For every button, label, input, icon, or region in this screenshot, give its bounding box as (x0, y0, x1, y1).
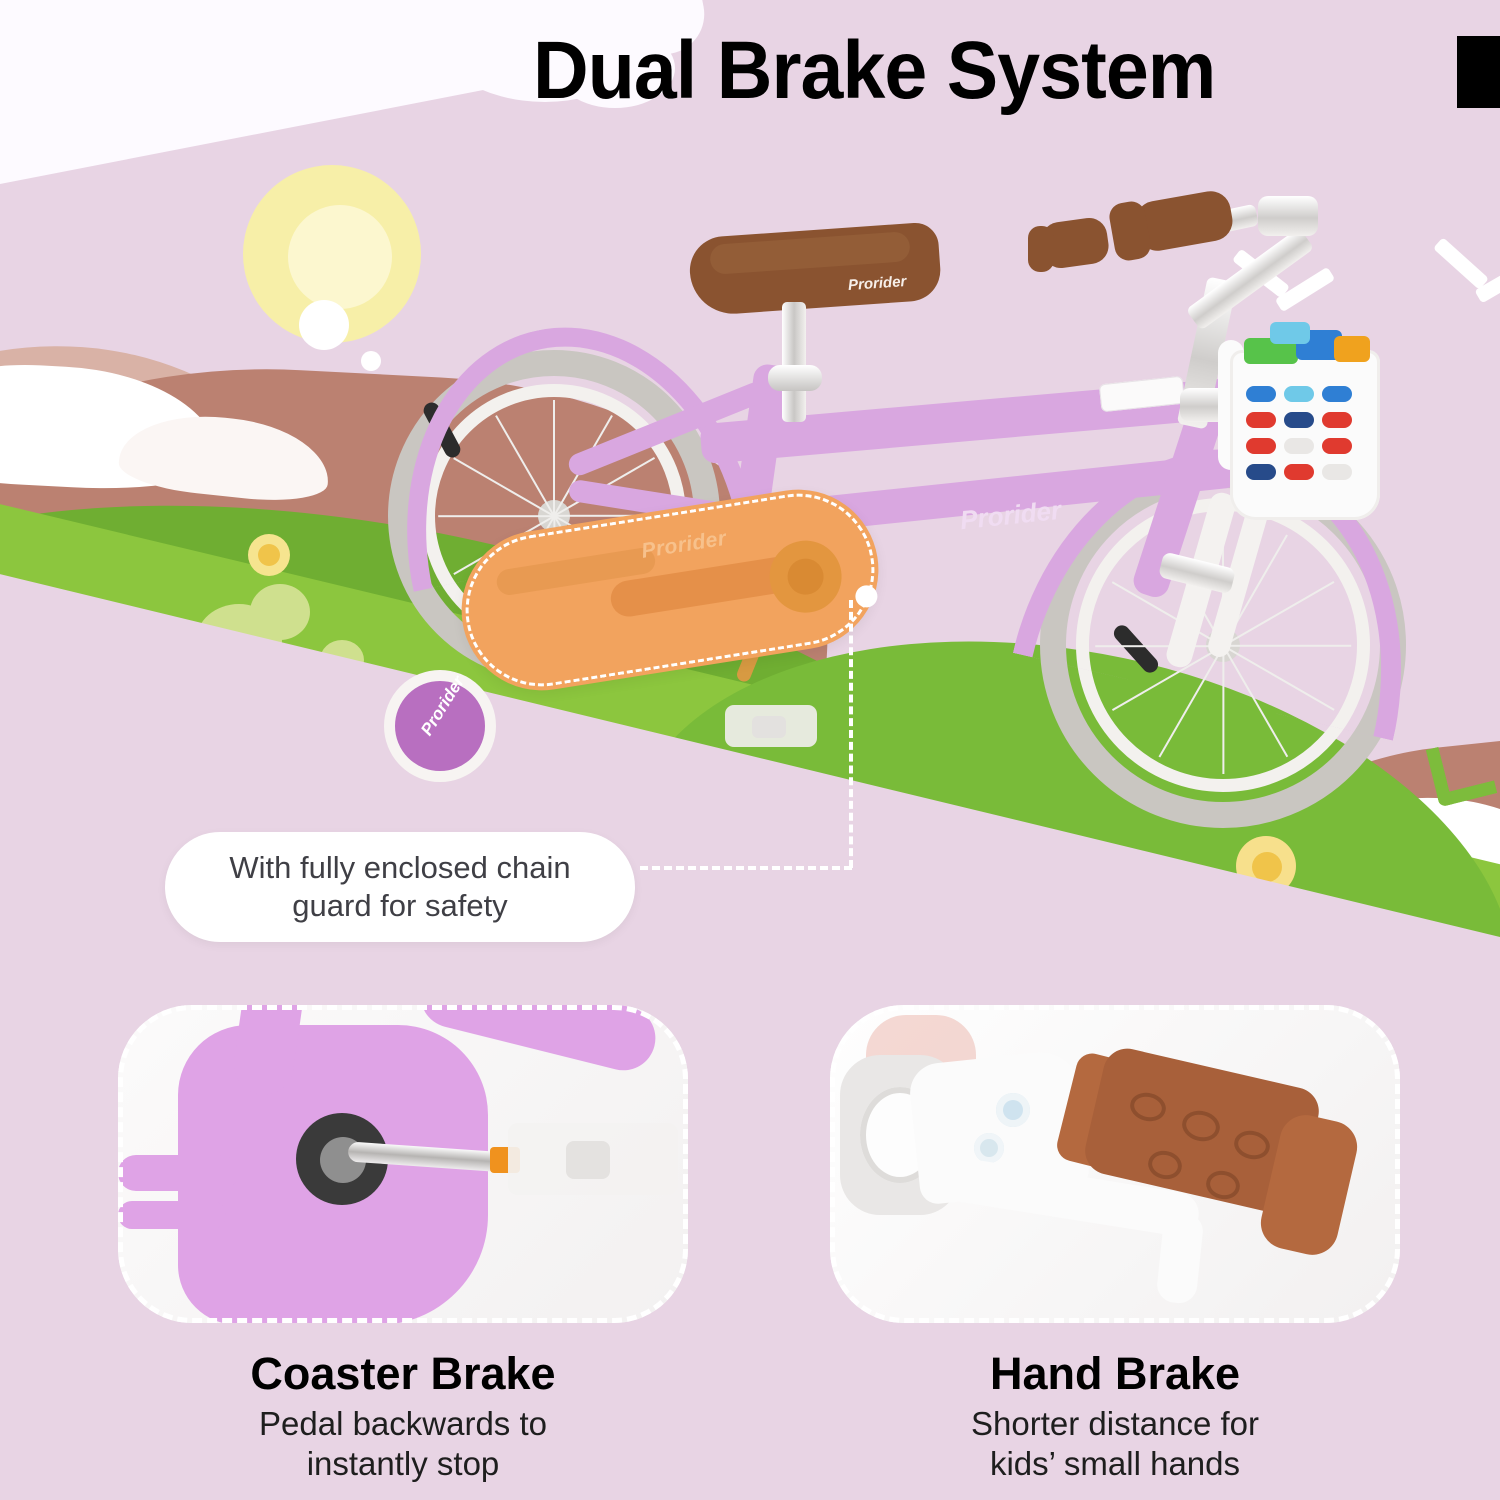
seat-clamp (768, 365, 822, 391)
basket-hole (1322, 464, 1352, 480)
basket-hole (1246, 386, 1276, 402)
basket-hole (1284, 386, 1314, 402)
feature-caption-coaster-brake: Pedal backwards to instantly stop (118, 1404, 688, 1483)
chain-guard-callout: With fully enclosed chain guard for safe… (165, 832, 635, 942)
brake-bolt (996, 1093, 1030, 1127)
frame-bar-detail (118, 1201, 226, 1229)
handlebar-cap (1258, 196, 1318, 236)
basket-hole (1322, 386, 1352, 402)
pedal-core (566, 1141, 610, 1179)
toy-block (1334, 336, 1370, 362)
basket-hole (1246, 438, 1276, 454)
basket-hole (1284, 464, 1314, 480)
brake-bolt (974, 1133, 1004, 1163)
callout-leader-horizontal (640, 866, 852, 870)
feature-heading-coaster-brake: Coaster Brake (118, 1348, 688, 1400)
basket-hole (1284, 438, 1314, 454)
grip-end-cap-left (1028, 226, 1054, 272)
feature-image-hand-brake (830, 1005, 1400, 1323)
feature-caption-hand-brake: Shorter distance for kids’ small hands (830, 1404, 1400, 1483)
callout-anchor-dot (854, 584, 879, 609)
feature-heading-hand-brake: Hand Brake (830, 1348, 1400, 1400)
handlebar (1186, 227, 1315, 330)
title-trailing-block (1457, 36, 1500, 108)
basket-hole (1246, 412, 1276, 428)
infographic-canvas: Prorider Prorider (0, 0, 1500, 1500)
basket-hole (1284, 412, 1314, 428)
front-basket (1230, 350, 1380, 520)
basket-hole (1246, 464, 1276, 480)
flower-center (258, 544, 280, 566)
chain-guard-brand-text: Prorider (640, 527, 728, 564)
page-title: Dual Brake System (533, 24, 1215, 118)
feature-image-coaster-brake (118, 1005, 688, 1323)
seat-post (782, 302, 806, 422)
basket-hole (1322, 438, 1352, 454)
toy-block (1270, 322, 1310, 344)
basket-hole (1322, 412, 1352, 428)
callout-text: With fully enclosed chain guard for safe… (229, 849, 570, 925)
frame-bar-detail (118, 1155, 238, 1191)
pedal-center (752, 716, 786, 738)
callout-leader-vertical (849, 600, 853, 868)
